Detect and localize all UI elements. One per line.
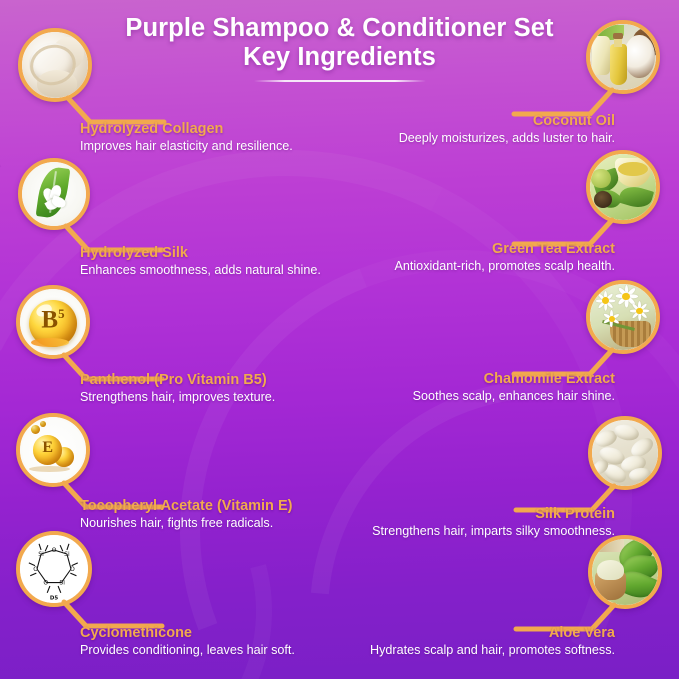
ingredient-name: Chamomile Extract: [265, 371, 615, 388]
chamomile-flower-icon: [586, 280, 660, 354]
vitamin-e-capsule-icon: E: [16, 413, 90, 487]
ingredients-infographic: Purple Shampoo & Conditioner Set Key Ing…: [0, 0, 679, 679]
siloxane-structure-svg: Si O Si O Si O O D5: [20, 535, 88, 603]
ingredient-description: Strengthens hair, imparts silky smoothne…: [245, 524, 615, 540]
poster-header: Purple Shampoo & Conditioner Set Key Ing…: [0, 14, 679, 82]
background-swirl: [90, 160, 679, 679]
svg-text:Si: Si: [59, 580, 65, 587]
ingredient-description: Hydrates scalp and hair, promotes softne…: [245, 643, 615, 659]
page-title-line2: Key Ingredients: [0, 43, 679, 72]
b5-badge-label: B5: [20, 307, 86, 332]
ingredient-description: Deeply moisturizes, adds luster to hair.: [265, 131, 615, 147]
vitamin-e-badge-label: E: [33, 439, 62, 457]
ingredient-description: Antioxidant-rich, promotes scalp health.: [265, 259, 615, 275]
ingredient-name: Silk Protein: [245, 506, 615, 523]
silk-cocoon-icon: [588, 416, 662, 490]
vitamin-b5-droplet-icon: B5: [16, 285, 90, 359]
svg-text:Si: Si: [64, 551, 70, 558]
background-swirl: [0, 7, 679, 679]
green-tea-icon: [586, 150, 660, 224]
ingredient-name: Green Tea Extract: [265, 241, 615, 258]
svg-text:O: O: [52, 547, 57, 554]
leaf-flower-icon: [18, 158, 90, 230]
svg-text:O: O: [33, 566, 38, 573]
ingredient-name: Coconut Oil: [265, 113, 615, 130]
siloxane-ring-icon: Si O Si O Si O O D5: [16, 531, 92, 607]
svg-text:O: O: [70, 566, 75, 573]
ingredient-description: Soothes scalp, enhances hair shine.: [265, 389, 615, 405]
aloe-vera-icon: [588, 535, 662, 609]
page-title-line1: Purple Shampoo & Conditioner Set: [0, 14, 679, 43]
svg-text:D5: D5: [50, 596, 59, 602]
cream-jar-icon: [18, 28, 92, 102]
svg-text:Si: Si: [38, 551, 44, 558]
svg-text:O: O: [43, 580, 48, 587]
ingredient-name: Aloe Vera: [245, 625, 615, 642]
coconut-oil-icon: [586, 20, 660, 94]
title-divider: [254, 80, 426, 82]
